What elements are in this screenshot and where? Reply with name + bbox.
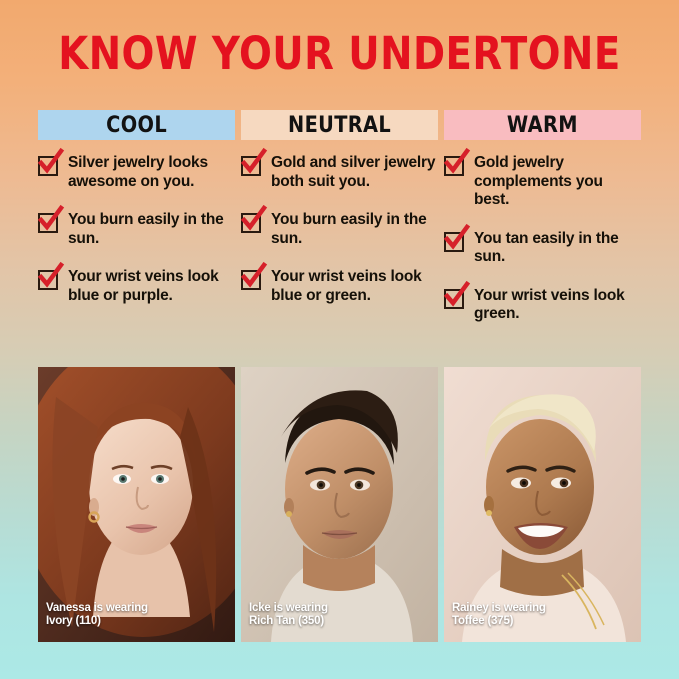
checklist-item[interactable]: You tan easily in the sun. — [444, 230, 641, 267]
checklist-item-label: Your wrist veins look blue or green. — [271, 268, 438, 305]
photo-caption-warm: Rainey is wearing Toffee (375) — [452, 602, 546, 628]
page-title: KNOW YOUR UNDERTONE — [48, 30, 632, 78]
caption-line-2: Toffee (375) — [452, 615, 546, 628]
model-photos: Vanessa is wearing Ivory (110) — [38, 367, 642, 642]
checklist-item-label: Gold jewelry complements you best. — [474, 154, 641, 210]
checklist-item-label: Your wrist veins look green. — [474, 287, 641, 324]
checkbox-checked-icon[interactable] — [38, 213, 58, 233]
checklist-item[interactable]: You burn easily in the sun. — [38, 211, 235, 248]
caption-line-2: Rich Tan (350) — [249, 615, 328, 628]
undertone-columns: COOL Silver jewelry looks awesome on you… — [38, 110, 642, 324]
photo-neutral-model: Icke is wearing Rich Tan (350) — [241, 367, 438, 642]
checklist-item-label: You burn easily in the sun. — [271, 211, 438, 248]
checkbox-checked-icon[interactable] — [241, 156, 261, 176]
caption-line-1: Rainey is wearing — [452, 602, 546, 615]
checklist-warm: Gold jewelry complements you best. You t… — [444, 154, 641, 324]
checklist-item[interactable]: Your wrist veins look blue or green. — [241, 268, 438, 305]
checklist-item-label: Gold and silver jewelry both suit you. — [271, 154, 438, 191]
checkbox-checked-icon[interactable] — [444, 156, 464, 176]
column-header-warm: WARM — [444, 110, 641, 140]
portrait-image-icke — [241, 367, 438, 642]
photo-warm-model: Rainey is wearing Toffee (375) — [444, 367, 641, 642]
column-header-neutral-label: NEUTRAL — [288, 113, 391, 138]
photo-cool-model: Vanessa is wearing Ivory (110) — [38, 367, 235, 642]
checkbox-checked-icon[interactable] — [38, 156, 58, 176]
checklist-item[interactable]: Gold jewelry complements you best. — [444, 154, 641, 210]
checklist-item-label: Your wrist veins look blue or purple. — [68, 268, 235, 305]
column-header-neutral: NEUTRAL — [241, 110, 438, 140]
column-neutral: NEUTRAL Gold and silver jewelry both sui… — [241, 110, 438, 324]
column-warm: WARM Gold jewelry complements you best. … — [444, 110, 641, 324]
column-header-cool: COOL — [38, 110, 235, 140]
portrait-image-vanessa — [38, 367, 235, 642]
checklist-item-label: You burn easily in the sun. — [68, 211, 235, 248]
checklist-item[interactable]: Silver jewelry looks awesome on you. — [38, 154, 235, 191]
checklist-item[interactable]: Your wrist veins look green. — [444, 287, 641, 324]
caption-line-2: Ivory (110) — [46, 615, 148, 628]
checklist-item[interactable]: Gold and silver jewelry both suit you. — [241, 154, 438, 191]
checklist-neutral: Gold and silver jewelry both suit you. Y… — [241, 154, 438, 305]
portrait-image-rainey — [444, 367, 641, 642]
photo-caption-cool: Vanessa is wearing Ivory (110) — [46, 602, 148, 628]
checklist-item-label: You tan easily in the sun. — [474, 230, 641, 267]
checkbox-checked-icon[interactable] — [38, 270, 58, 290]
undertone-infographic: KNOW YOUR UNDERTONE COOL Silver jewelry … — [0, 0, 679, 679]
checklist-item-label: Silver jewelry looks awesome on you. — [68, 154, 235, 191]
checkbox-checked-icon[interactable] — [444, 289, 464, 309]
checklist-item[interactable]: You burn easily in the sun. — [241, 211, 438, 248]
caption-line-1: Icke is wearing — [249, 602, 328, 615]
column-header-cool-label: COOL — [106, 113, 167, 138]
column-header-warm-label: WARM — [507, 113, 578, 138]
checkbox-checked-icon[interactable] — [241, 213, 261, 233]
caption-line-1: Vanessa is wearing — [46, 602, 148, 615]
checkbox-checked-icon[interactable] — [241, 270, 261, 290]
checklist-item[interactable]: Your wrist veins look blue or purple. — [38, 268, 235, 305]
column-cool: COOL Silver jewelry looks awesome on you… — [38, 110, 235, 324]
checklist-cool: Silver jewelry looks awesome on you. You… — [38, 154, 235, 305]
checkbox-checked-icon[interactable] — [444, 232, 464, 252]
photo-caption-neutral: Icke is wearing Rich Tan (350) — [249, 602, 328, 628]
